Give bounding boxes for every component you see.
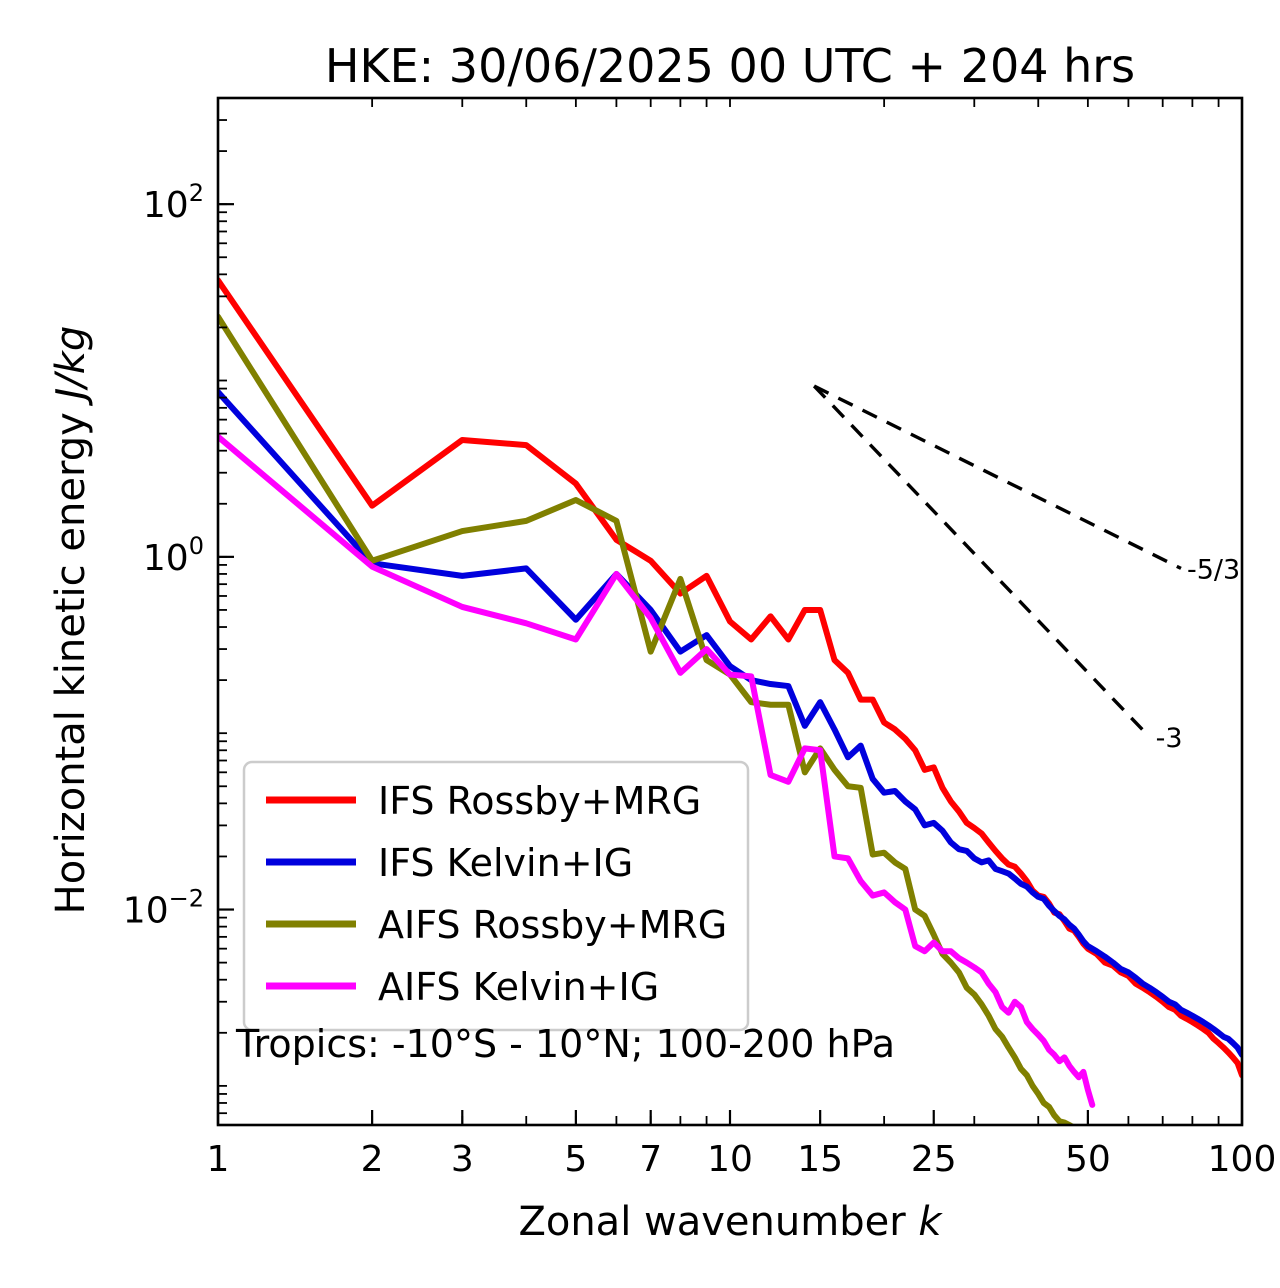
reference-slope-label-1: -3 <box>1156 723 1183 754</box>
legend-label-1[interactable]: IFS Kelvin+IG <box>378 841 633 885</box>
region-annotation: Tropics: -10°S - 10°N; 100-200 hPa <box>235 1022 895 1066</box>
x-tick-label: 7 <box>639 1139 662 1180</box>
legend-label-2[interactable]: AIFS Rossby+MRG <box>378 903 727 947</box>
reference-slope-lines: -5/3-3 <box>814 386 1240 754</box>
legend-label-3[interactable]: AIFS Kelvin+IG <box>378 965 659 1009</box>
y-tick-label: 102 <box>143 179 204 226</box>
x-tick-label: 25 <box>911 1139 957 1180</box>
chart-title: HKE: 30/06/2025 00 UTC + 204 hrs <box>325 39 1135 93</box>
x-tick-label: 50 <box>1065 1139 1111 1180</box>
x-axis-title-symbol: k <box>918 1199 943 1245</box>
x-tick-label: 10 <box>707 1139 753 1180</box>
x-tick-label: 3 <box>451 1139 474 1180</box>
y-tick-label: 10−2 <box>123 885 204 932</box>
reference-slope-line-1 <box>814 386 1149 737</box>
x-tick-label: 15 <box>797 1139 843 1180</box>
y-axis-title-units: J/kg <box>48 326 94 407</box>
x-tick-label: 2 <box>361 1139 384 1180</box>
x-tick-label: 100 <box>1208 1139 1277 1180</box>
x-axis-title: Zonal wavenumber k <box>518 1199 943 1245</box>
y-tick-label: 100 <box>143 532 204 579</box>
x-tick-label: 5 <box>564 1139 587 1180</box>
x-axis-title-main: Zonal wavenumber <box>518 1199 918 1245</box>
y-axis-title-main: Horizontal kinetic energy <box>48 400 94 915</box>
svg-text:Horizontal kinetic energy J/kg: Horizontal kinetic energy J/kg <box>48 326 94 915</box>
legend-label-0[interactable]: IFS Rossby+MRG <box>378 779 701 823</box>
x-tick-label: 1 <box>207 1139 230 1180</box>
svg-text:Zonal wavenumber k: Zonal wavenumber k <box>518 1199 943 1245</box>
chart-legend[interactable]: IFS Rossby+MRGIFS Kelvin+IGAIFS Rossby+M… <box>244 762 748 1030</box>
reference-slope-label-0: -5/3 <box>1187 554 1240 585</box>
spectra-chart: HKE: 30/06/2025 00 UTC + 204 hrs -5/3-31… <box>0 0 1280 1288</box>
reference-slope-line-0 <box>814 386 1181 568</box>
y-axis-title: Horizontal kinetic energy J/kg <box>48 326 94 915</box>
chart-figure: HKE: 30/06/2025 00 UTC + 204 hrs -5/3-31… <box>0 0 1280 1288</box>
